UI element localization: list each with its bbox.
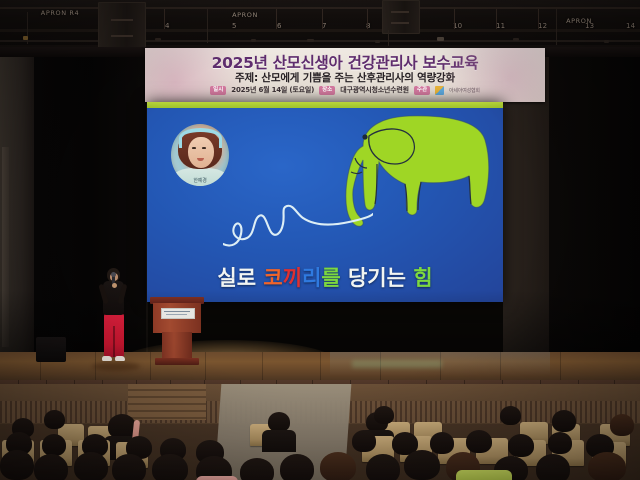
- truss-cell: [322, 9, 368, 29]
- ceiling-speaker-left: [98, 2, 146, 52]
- auditorium-photo: APRON R4 APRON APRON APRON 4 5 6 7 8 9 1…: [0, 0, 640, 480]
- caption-part-2: 코: [263, 266, 282, 290]
- truss-number: 5: [232, 22, 237, 30]
- truss-bar: [0, 40, 640, 42]
- rig-drop: [207, 9, 208, 43]
- audience-head: [34, 454, 68, 480]
- audience-head: [240, 458, 274, 480]
- audience-head: [548, 432, 572, 454]
- truss-number: 13: [585, 22, 594, 30]
- apron-label-left: APRON R4: [38, 9, 82, 17]
- audience-head: [280, 454, 314, 480]
- truss-cell: [164, 9, 210, 29]
- date-tag: 일시: [210, 86, 226, 95]
- audience-head: [404, 450, 440, 480]
- host-tag: 주관: [414, 86, 430, 95]
- audience-head: [44, 410, 65, 429]
- portrait-eye-left: [192, 147, 196, 149]
- audience-head: [374, 406, 394, 424]
- audience-head: [552, 410, 576, 432]
- caption-part-4: 리: [302, 266, 321, 290]
- truss-cell: [496, 9, 539, 29]
- date-text: 2025년 6월 14일 (토요일): [231, 85, 314, 95]
- audience-head: [610, 414, 634, 436]
- stage-light: [23, 36, 28, 40]
- audience-head: [536, 454, 570, 480]
- stage-light: [307, 39, 314, 42]
- podium-plaque-line: [166, 314, 187, 315]
- banner-subtitle: 주제: 산모에게 기쁨을 주는 산후관리사의 역량강화: [145, 70, 545, 85]
- truss-cell: [538, 9, 584, 29]
- audience-body: [262, 430, 296, 452]
- host-text: 아세아여성협회: [449, 87, 480, 94]
- audience-body-green: [456, 470, 512, 480]
- rig-drop: [388, 30, 389, 46]
- truss-cell: [276, 9, 323, 29]
- audience-head: [466, 430, 492, 453]
- audience-head: [152, 454, 188, 480]
- rig-drop: [556, 9, 557, 45]
- truss-number: 14: [626, 22, 635, 30]
- presenter-shoe-left: [102, 356, 112, 361]
- presenter: [97, 268, 131, 368]
- podium: [150, 297, 204, 365]
- audience-head: [74, 452, 108, 480]
- audience-body-pink: [196, 476, 238, 480]
- audience-head: [42, 434, 66, 456]
- presenter-leg-split: [113, 326, 115, 357]
- portrait-caption: 한예경: [171, 177, 229, 184]
- thread-squiggle: [223, 200, 373, 250]
- caption-part-6: 당기는: [348, 266, 406, 290]
- microphone-head-icon: [111, 272, 116, 277]
- audience-head: [430, 432, 454, 454]
- caption-part-3: 끼: [283, 266, 302, 290]
- presenter-hand: [112, 283, 117, 288]
- caption-part-5: 를: [321, 266, 340, 290]
- audience-head: [588, 452, 626, 480]
- caption-part-7: 힘: [413, 266, 432, 290]
- stage-light: [155, 38, 161, 41]
- wall-pillar: [2, 147, 9, 347]
- right-wall-panel: [503, 57, 549, 362]
- audience-head: [0, 450, 34, 480]
- place-text: 대구광역시청소년수련원: [340, 85, 409, 95]
- stage-light: [513, 38, 519, 41]
- caption-part-1: 실로: [217, 266, 256, 290]
- ceiling-speaker-center: [382, 0, 420, 34]
- audience-head: [112, 454, 146, 480]
- event-banner: 2025년 산모신생아 건강관리사 보수교육 주제: 산모에게 기쁨을 주는 산…: [145, 48, 545, 102]
- organization-logo-icon: [435, 86, 444, 95]
- audience-head: [352, 430, 376, 452]
- stage-light: [604, 40, 609, 43]
- presentation-slide: 한예경: [147, 108, 503, 302]
- banner-meta: 일시 2025년 6월 14일 (토요일) 장소 대구광역시청소년수련원 주관 …: [145, 85, 545, 95]
- audience-head: [508, 434, 534, 457]
- stage-light: [375, 40, 380, 43]
- podium-stem: [162, 332, 192, 360]
- truss-cell: [454, 9, 497, 29]
- presenter-portrait-avatar: 한예경: [171, 124, 229, 186]
- stage-light: [251, 39, 256, 42]
- portrait-headband: [179, 128, 222, 148]
- presenter-shoe-right: [115, 356, 125, 361]
- left-wall: [0, 57, 36, 362]
- audience-head: [268, 412, 290, 432]
- apron-label-center: APRON: [225, 11, 265, 19]
- podium-base: [155, 358, 199, 365]
- slide-caption: 실로 코끼리를 당기는 힘: [147, 262, 503, 292]
- audience-head: [366, 454, 400, 480]
- projection-screen: 한예경: [147, 102, 503, 302]
- stage-monitor-speaker: [36, 337, 66, 362]
- audience-area: [0, 384, 640, 480]
- portrait-mouth: [197, 158, 204, 161]
- audience-head: [320, 452, 356, 480]
- stage-light: [437, 37, 444, 41]
- podium-plaque-line: [164, 311, 190, 312]
- portrait-eye-right: [202, 147, 206, 149]
- ceiling-truss: APRON R4 APRON APRON APRON 4 5 6 7 8 9 1…: [0, 0, 640, 47]
- place-tag: 장소: [319, 86, 335, 95]
- audience-head: [500, 406, 521, 425]
- aisle-steps: [128, 384, 206, 420]
